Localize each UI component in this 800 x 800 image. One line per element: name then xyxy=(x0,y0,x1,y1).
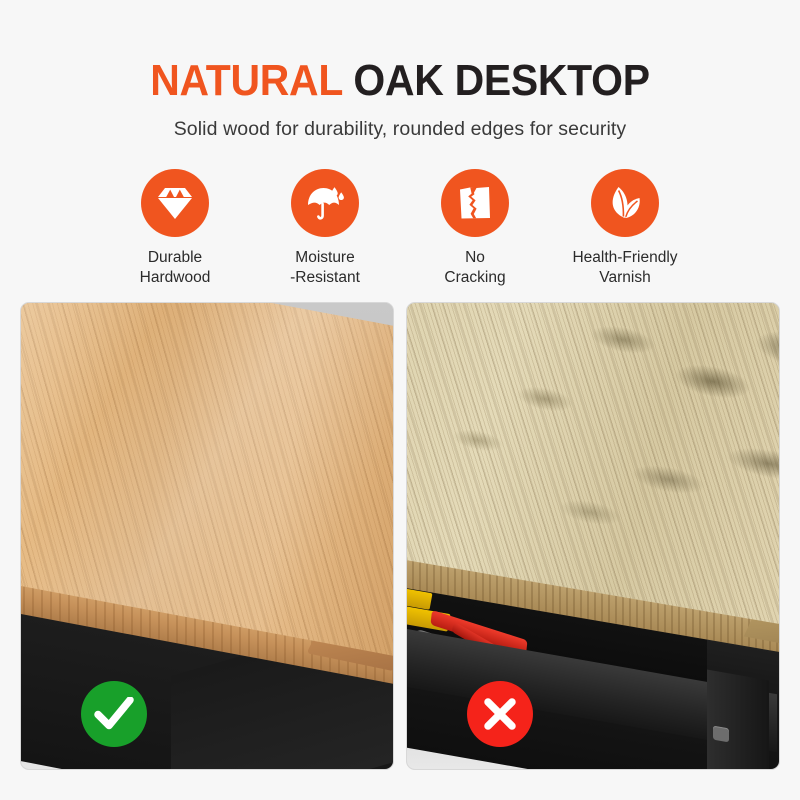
page-subtitle: Solid wood for durability, rounded edges… xyxy=(0,118,800,141)
feature-label: Moisture -Resistant xyxy=(290,248,360,288)
product-infographic: NATURAL OAK DESKTOP Solid wood for durab… xyxy=(0,0,800,800)
title-rest: OAK DESKTOP xyxy=(353,56,649,105)
good-product-photo xyxy=(21,303,393,769)
feature-label: Health-Friendly Varnish xyxy=(572,248,677,288)
feature-label: No Cracking xyxy=(444,248,505,288)
title-highlight: NATURAL xyxy=(150,56,342,105)
feature-health-friendly-varnish: Health-Friendly Varnish xyxy=(550,169,700,288)
cabinet-leg xyxy=(707,670,769,770)
header: NATURAL OAK DESKTOP Solid wood for durab… xyxy=(0,0,800,141)
feature-label: Durable Hardwood xyxy=(140,248,211,288)
status-badge-good xyxy=(81,681,147,747)
title-spacer xyxy=(342,56,353,105)
bad-product-photo xyxy=(407,303,779,769)
feature-badge xyxy=(291,169,359,237)
feature-badge xyxy=(591,169,659,237)
feature-durable-hardwood: Durable Hardwood xyxy=(100,169,250,288)
panel-bad-moldy-desktop xyxy=(406,302,780,770)
feature-badge xyxy=(441,169,509,237)
cracked-block-icon xyxy=(457,184,493,222)
comparison-panels xyxy=(20,302,780,768)
feature-no-cracking: No Cracking xyxy=(400,169,550,288)
feature-moisture-resistant: Moisture -Resistant xyxy=(250,169,400,288)
feature-list: Durable Hardwood Moisture -Resistant xyxy=(0,169,800,288)
cross-icon xyxy=(483,697,517,731)
page-title: NATURAL OAK DESKTOP xyxy=(28,58,772,104)
umbrella-icon xyxy=(305,184,345,222)
bolt xyxy=(713,726,729,743)
leaves-icon xyxy=(605,184,645,222)
feature-badge xyxy=(141,169,209,237)
panel-good-oak-desktop xyxy=(20,302,394,770)
status-badge-bad xyxy=(467,681,533,747)
diamond-icon xyxy=(156,186,194,220)
check-icon xyxy=(94,697,134,731)
